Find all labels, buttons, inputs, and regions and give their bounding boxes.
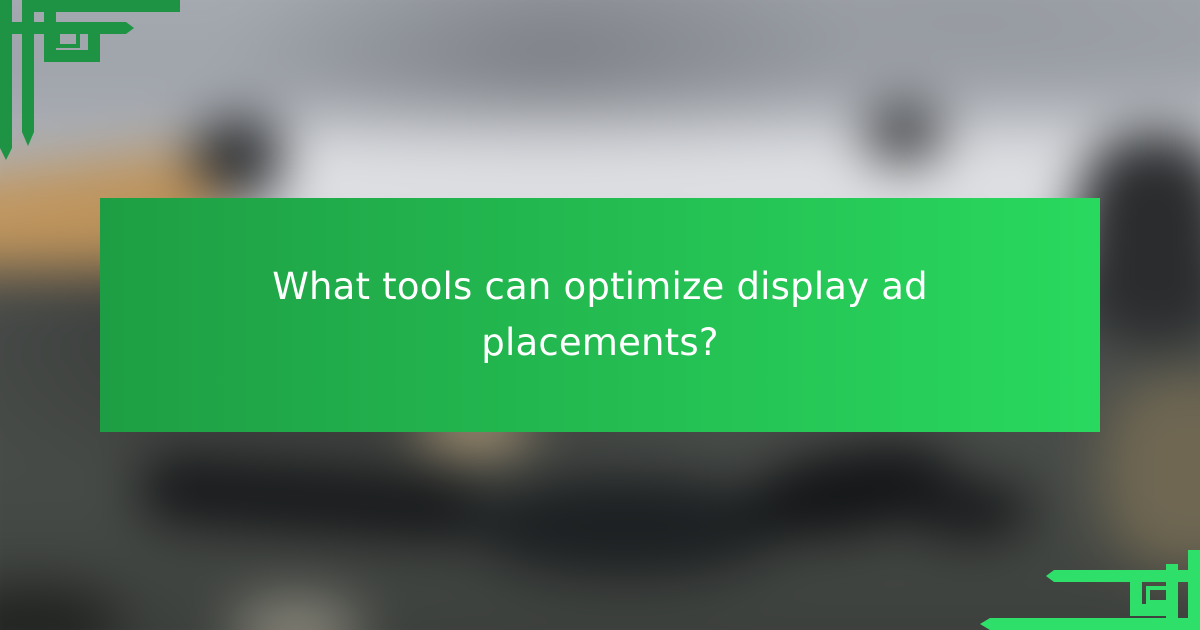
background-object bbox=[468, 473, 785, 578]
question-text: What tools can optimize display ad place… bbox=[164, 259, 1036, 371]
corner-bracket-top-left-icon bbox=[0, 0, 180, 180]
question-banner: What tools can optimize display ad place… bbox=[100, 198, 1100, 432]
background-object bbox=[904, 480, 1036, 540]
question-card: What tools can optimize display ad place… bbox=[0, 0, 1200, 630]
background-object bbox=[1102, 375, 1200, 570]
background-object bbox=[191, 120, 283, 195]
background-object bbox=[864, 105, 943, 165]
corner-bracket-bottom-right-icon bbox=[970, 550, 1200, 630]
